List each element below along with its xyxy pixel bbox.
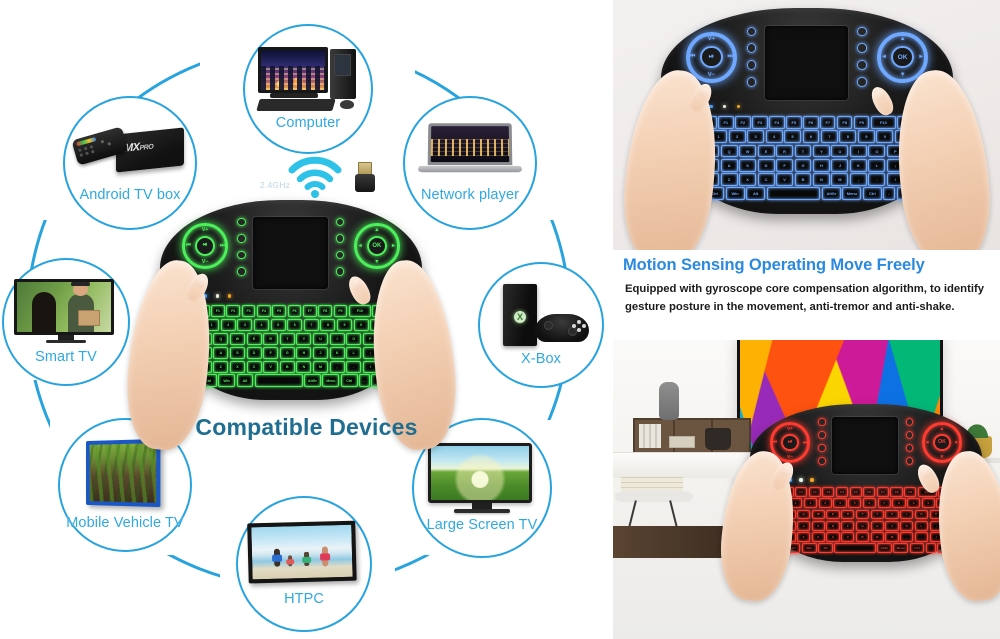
key-2[interactable]: 2 <box>729 130 746 143</box>
key-2[interactable]: 2 <box>221 319 236 331</box>
key-f8[interactable]: F8 <box>318 305 332 317</box>
key-7[interactable]: 7 <box>821 130 838 143</box>
key-f10[interactable]: F10 <box>871 116 896 129</box>
key-[interactable]: . <box>915 532 928 542</box>
smart-tv-icon <box>14 279 118 347</box>
status-led <box>810 478 814 482</box>
key-i[interactable]: I <box>850 145 867 158</box>
key-c[interactable]: C <box>247 361 262 373</box>
wireless-connection-group: 2.4GHz <box>258 152 398 204</box>
media-ring-b-button[interactable]: V− <box>202 259 209 265</box>
key-row: ShiftZXCVBNM,./↑ <box>774 532 957 542</box>
key-space[interactable] <box>767 187 821 200</box>
key-f[interactable]: F <box>776 159 793 172</box>
key-matrix[interactable]: EscF1F2F3F4F5F6F7F8F9F10Del~1234567890BA… <box>692 116 923 200</box>
vehicle-monitor-icon <box>84 440 166 512</box>
android-tv-box-icon: MXPRO <box>74 123 186 183</box>
mini-keyboard-blue[interactable]: ⏯V+V−⏮⏭OK▲▼◄►EscF1F2F3F4F5F6F7F8F9F10Del… <box>661 8 953 214</box>
rug <box>613 526 725 558</box>
nav-ring-center-button[interactable]: OK <box>367 236 387 256</box>
key-row: ~1234567890BACK <box>188 319 395 331</box>
key-9[interactable]: 9 <box>337 319 352 331</box>
key-2[interactable]: 2 <box>804 498 817 508</box>
books <box>669 436 695 448</box>
laptop-screen-icon <box>428 123 513 165</box>
key-t[interactable]: T <box>280 333 295 345</box>
key-3[interactable]: 3 <box>747 130 764 143</box>
key-row: CapsASDFGHJKL;↵ <box>692 159 923 172</box>
media-ring-l-button[interactable]: ⏮ <box>773 440 777 445</box>
touchpad[interactable] <box>832 417 898 474</box>
media-ring-t-button[interactable]: V+ <box>202 227 209 233</box>
media-ring-r-button[interactable]: ⏭ <box>728 54 733 61</box>
device-node-computer[interactable]: Computer <box>243 24 373 154</box>
key-f7[interactable]: F7 <box>303 305 317 317</box>
key-f2[interactable]: F2 <box>735 116 750 129</box>
key-d[interactable]: D <box>247 347 262 359</box>
key-a[interactable]: A <box>797 521 810 531</box>
key-7[interactable]: 7 <box>304 319 319 331</box>
key-row: TabQWERTYUIOP\ <box>774 510 957 520</box>
media-ring-b-button[interactable]: V− <box>708 72 715 78</box>
key-v[interactable]: V <box>263 361 278 373</box>
menu-icon[interactable] <box>237 234 245 242</box>
key-f5[interactable]: F5 <box>850 487 862 497</box>
key-z[interactable]: Z <box>721 173 738 186</box>
key-row: ShiftZXCVBNM,./↑ <box>692 173 923 186</box>
key-row: ShiftZXCVBNM,./↑ <box>188 361 395 373</box>
nav-ring-b-button[interactable]: ▼ <box>940 454 945 459</box>
monitor-icon <box>258 47 328 93</box>
game-console-icon <box>489 284 593 350</box>
feature-panel: ⏯V+V−⏮⏭OK▲▼◄►EscF1F2F3F4F5F6F7F8F9F10Del… <box>613 0 1000 639</box>
tv-screen-icon <box>247 520 357 583</box>
key-ctrl[interactable]: Ctrl <box>341 374 358 386</box>
key-5[interactable]: 5 <box>848 498 861 508</box>
wifi-band-label: 2.4GHz <box>260 180 290 190</box>
key-[interactable]: , <box>850 173 867 186</box>
key-4[interactable]: 4 <box>833 498 846 508</box>
key-k[interactable]: K <box>330 347 345 359</box>
key-row: FnCtrlWinAltAltGrMenuCtrl←↓→ <box>188 374 395 386</box>
key-row: CapsASDFGHJKL;↵ <box>188 347 395 359</box>
nav-ring-center-button[interactable]: OK <box>933 434 951 452</box>
device-label-smart-tv: Smart TV <box>35 349 97 365</box>
back-icon[interactable] <box>336 267 344 275</box>
tower-icon <box>330 49 356 99</box>
key-h[interactable]: H <box>871 521 884 531</box>
key-4[interactable]: 4 <box>254 319 269 331</box>
key-5[interactable]: 5 <box>271 319 286 331</box>
key-8[interactable]: 8 <box>320 319 335 331</box>
search-icon[interactable] <box>857 27 866 36</box>
key-matrix[interactable]: EscF1F2F3F4F5F6F7F8F9F10Del~1234567890BA… <box>774 487 957 553</box>
nav-ring-l-button[interactable]: ◄ <box>925 440 930 445</box>
key-g[interactable]: G <box>795 159 812 172</box>
usb-dongle-icon <box>354 162 376 192</box>
nav-ring-t-button[interactable]: ▲ <box>940 426 945 431</box>
key-h[interactable]: H <box>296 347 311 359</box>
key-c[interactable]: C <box>826 532 839 542</box>
key-f1[interactable]: F1 <box>795 487 807 497</box>
device-label-mobile-vehicle-tv: Mobile Vehicle TV <box>66 515 184 531</box>
key-[interactable]: ← <box>883 187 895 200</box>
key-0[interactable]: 0 <box>354 319 369 331</box>
key-x[interactable]: X <box>230 361 245 373</box>
key-o[interactable]: O <box>868 145 885 158</box>
key-z[interactable]: Z <box>797 532 810 542</box>
key-row: ~1234567890BACK <box>692 130 923 143</box>
nav-ring-t-button[interactable]: ▲ <box>374 227 379 233</box>
key-5[interactable]: 5 <box>784 130 801 143</box>
mousepad-icon <box>256 99 335 111</box>
feature-headline: Motion Sensing Operating Move Freely <box>623 256 995 275</box>
nav-ring-r-button[interactable]: ► <box>954 440 959 445</box>
key-4[interactable]: 4 <box>766 130 783 143</box>
key-d[interactable]: D <box>758 159 775 172</box>
key-l[interactable]: L <box>915 521 928 531</box>
page-title: Compatible Devices <box>0 414 613 441</box>
large-tv-icon <box>428 443 536 515</box>
key-f9[interactable]: F9 <box>334 305 348 317</box>
key-row: FnCtrlWinAltAltGrMenuCtrl←↓→ <box>692 187 923 200</box>
key-win[interactable]: Win <box>726 187 745 200</box>
power-icon[interactable] <box>237 267 245 275</box>
power-icon[interactable] <box>818 457 825 464</box>
key-altgr[interactable]: AltGr <box>304 374 321 386</box>
key-space[interactable] <box>255 374 303 386</box>
key-0[interactable]: 0 <box>922 498 935 508</box>
key-j[interactable]: J <box>885 521 898 531</box>
key-d[interactable]: D <box>826 521 839 531</box>
media-ring-center-button[interactable]: ⏯ <box>781 434 799 452</box>
home-icon[interactable] <box>818 418 825 425</box>
monitor-screen-icon <box>86 438 160 506</box>
laptop-icon <box>418 123 522 181</box>
media-ring-center-button[interactable]: ⏯ <box>700 46 722 68</box>
photo-living-room-keyboard: ⏯V+V−⏮⏭OK▲▼◄►EscF1F2F3F4F5F6F7F8F9F10Del… <box>613 340 1000 639</box>
nav-ring-t-button[interactable]: ▲ <box>900 36 906 42</box>
wifi-icon <box>286 154 344 198</box>
key-f2[interactable]: F2 <box>226 305 240 317</box>
key-menu[interactable]: Menu <box>322 374 339 386</box>
key-matrix[interactable]: EscF1F2F3F4F5F6F7F8F9F10Del~1234567890BA… <box>188 305 395 387</box>
key-x[interactable]: X <box>812 532 825 542</box>
key-v[interactable]: V <box>776 173 793 186</box>
back-icon[interactable] <box>906 457 913 464</box>
product-infographic: Computer MXPRO Android TV box Network pl… <box>0 0 1000 639</box>
key-f3[interactable]: F3 <box>822 487 834 497</box>
key-menu[interactable]: Menu <box>842 187 861 200</box>
key-f5[interactable]: F5 <box>786 116 801 129</box>
feature-description: Equipped with gyroscope core compensatio… <box>625 280 991 317</box>
key-[interactable]: , <box>330 361 345 373</box>
nav-ring-r-button[interactable]: ► <box>391 243 396 249</box>
key-6[interactable]: 6 <box>863 498 876 508</box>
key-9[interactable]: 9 <box>907 498 920 508</box>
key-alt[interactable]: Alt <box>746 187 765 200</box>
key-row: TabQWERTYUIOP\ <box>188 333 395 345</box>
key-r[interactable]: R <box>776 145 793 158</box>
nav-ring-l-button[interactable]: ◄ <box>881 54 887 60</box>
key-m[interactable]: M <box>885 532 898 542</box>
key-t[interactable]: T <box>795 145 812 158</box>
desktop-computer-icon <box>254 47 362 113</box>
key-f8[interactable]: F8 <box>890 487 902 497</box>
media-ring-t-button[interactable]: V+ <box>708 36 715 42</box>
key-f3[interactable]: F3 <box>242 305 256 317</box>
device-node-htpc[interactable]: HTPC <box>236 496 372 632</box>
htpc-tv-icon <box>247 520 361 587</box>
key-altgr[interactable]: AltGr <box>877 543 892 553</box>
nav-ring-b-button[interactable]: ▼ <box>374 259 379 265</box>
key-h[interactable]: H <box>813 159 830 172</box>
device-node-x-box[interactable]: X-Box <box>478 262 604 388</box>
key-row: EscF1F2F3F4F5F6F7F8F9F10Del <box>188 305 395 317</box>
key-o[interactable]: O <box>346 333 361 345</box>
key-w[interactable]: W <box>230 333 245 345</box>
key-[interactable]: . <box>868 173 885 186</box>
key-win[interactable]: Win <box>218 374 235 386</box>
key-w[interactable]: W <box>739 145 756 158</box>
key-r[interactable]: R <box>841 510 854 520</box>
key-z[interactable]: Z <box>213 361 228 373</box>
key-ctrl[interactable]: Ctrl <box>863 187 882 200</box>
laptop-keyboard-icon <box>417 166 524 172</box>
status-led <box>228 294 232 298</box>
device-label-network-player: Network player <box>421 187 519 203</box>
key-[interactable]: , <box>900 532 913 542</box>
media-ring-r-button[interactable]: ⏭ <box>803 440 807 445</box>
key-q[interactable]: Q <box>721 145 738 158</box>
key-k[interactable]: K <box>850 159 867 172</box>
key-w[interactable]: W <box>812 510 825 520</box>
key-x[interactable]: X <box>739 173 756 186</box>
key-t[interactable]: T <box>856 510 869 520</box>
key-7[interactable]: 7 <box>878 498 891 508</box>
mini-keyboard-green[interactable]: ⏯V+V−⏮⏭OK▲▼◄►EscF1F2F3F4F5F6F7F8F9F10Del… <box>160 200 422 400</box>
key-g[interactable]: G <box>280 347 295 359</box>
key-u[interactable]: U <box>313 333 328 345</box>
key-[interactable]: ← <box>359 374 370 386</box>
key-k[interactable]: K <box>900 521 913 531</box>
key-row: EscF1F2F3F4F5F6F7F8F9F10Del <box>692 116 923 129</box>
mute-icon[interactable] <box>237 251 245 259</box>
status-led <box>799 478 803 482</box>
key-6[interactable]: 6 <box>287 319 302 331</box>
key-f4[interactable]: F4 <box>769 116 784 129</box>
key-f9[interactable]: F9 <box>904 487 916 497</box>
key-alt[interactable]: Alt <box>818 543 833 553</box>
key-f5[interactable]: F5 <box>272 305 286 317</box>
media-ring-r-button[interactable]: ⏭ <box>220 242 225 249</box>
key-f3[interactable]: F3 <box>752 116 767 129</box>
key-row: ~1234567890BACK <box>774 498 957 508</box>
key-m[interactable]: M <box>831 173 848 186</box>
key-[interactable]: . <box>346 361 361 373</box>
photo-hands-holding-keyboard: ⏯V+V−⏮⏭OK▲▼◄►EscF1F2F3F4F5F6F7F8F9F10Del… <box>613 0 1000 250</box>
device-label-x-box: X-Box <box>521 351 561 367</box>
mini-keyboard-red[interactable]: ⏯V+V−⏮⏭OK▲▼◄►EscF1F2F3F4F5F6F7F8F9F10Del… <box>750 404 982 562</box>
key-r[interactable]: R <box>263 333 278 345</box>
key-f4[interactable]: F4 <box>257 305 271 317</box>
key-f7[interactable]: F7 <box>877 487 889 497</box>
key-s[interactable]: S <box>739 159 756 172</box>
key-win[interactable]: Win <box>802 543 817 553</box>
key-row: TabQWERTYUIOP\ <box>692 145 923 158</box>
key-f1[interactable]: F1 <box>718 116 733 129</box>
key-j[interactable]: J <box>831 159 848 172</box>
key-y[interactable]: Y <box>813 145 830 158</box>
key-[interactable]: ← <box>926 543 936 553</box>
key-i[interactable]: I <box>330 333 345 345</box>
key-f9[interactable]: F9 <box>854 116 869 129</box>
books <box>639 424 661 448</box>
key-row: CapsASDFGHJKL;↵ <box>774 521 957 531</box>
key-e[interactable]: E <box>758 145 775 158</box>
key-b[interactable]: B <box>795 173 812 186</box>
media-ring-l-button[interactable]: ⏮ <box>186 242 191 249</box>
key-n[interactable]: N <box>871 532 884 542</box>
key-m[interactable]: M <box>313 361 328 373</box>
key-f1[interactable]: F1 <box>211 305 225 317</box>
key-f6[interactable]: F6 <box>863 487 875 497</box>
key-o[interactable]: O <box>915 510 928 520</box>
key-f[interactable]: F <box>841 521 854 531</box>
key-j[interactable]: J <box>313 347 328 359</box>
key-y[interactable]: Y <box>871 510 884 520</box>
key-e[interactable]: E <box>247 333 262 345</box>
key-f10[interactable]: F10 <box>349 305 371 317</box>
key-e[interactable]: E <box>826 510 839 520</box>
tv-screen-icon <box>428 443 532 503</box>
key-6[interactable]: 6 <box>803 130 820 143</box>
key-u[interactable]: U <box>831 145 848 158</box>
console-icon <box>503 284 537 346</box>
media-ring[interactable]: ⏯V+V−⏮⏭ <box>182 223 228 269</box>
key-n[interactable]: N <box>296 361 311 373</box>
settings-icon[interactable] <box>906 431 913 438</box>
nav-ring[interactable]: OK▲▼◄► <box>354 223 400 269</box>
key-3[interactable]: 3 <box>819 498 832 508</box>
home-icon[interactable] <box>237 218 245 226</box>
key-n[interactable]: N <box>813 173 830 186</box>
nav-ring-b-button[interactable]: ▼ <box>900 72 906 78</box>
key-menu[interactable]: Menu <box>893 543 908 553</box>
key-f7[interactable]: F7 <box>820 116 835 129</box>
device-label-computer: Computer <box>276 115 340 131</box>
media-ring-t-button[interactable]: V+ <box>787 426 793 431</box>
key-g[interactable]: G <box>856 521 869 531</box>
key-a[interactable]: A <box>721 159 738 172</box>
key-a[interactable]: A <box>213 347 228 359</box>
key-f[interactable]: F <box>263 347 278 359</box>
key-ctrl[interactable]: Ctrl <box>910 543 925 553</box>
key-3[interactable]: 3 <box>237 319 252 331</box>
mute-icon[interactable] <box>818 444 825 451</box>
device-node-smart-tv[interactable]: Smart TV <box>2 258 130 386</box>
key-0[interactable]: 0 <box>876 130 893 143</box>
media-ring-l-button[interactable]: ⏮ <box>690 54 695 61</box>
hand-left <box>617 66 725 250</box>
device-label-htpc: HTPC <box>284 591 324 607</box>
key-b[interactable]: B <box>280 361 295 373</box>
key-space[interactable] <box>834 543 875 553</box>
key-l[interactable]: L <box>346 347 361 359</box>
key-f8[interactable]: F8 <box>837 116 852 129</box>
key-b[interactable]: B <box>856 532 869 542</box>
key-c[interactable]: C <box>758 173 775 186</box>
media-ring-b-button[interactable]: V− <box>787 454 793 459</box>
gamepad-icon <box>535 314 589 342</box>
device-node-network-player[interactable]: Network player <box>403 96 537 230</box>
key-q[interactable]: Q <box>213 333 228 345</box>
browser-icon[interactable] <box>906 444 913 451</box>
touchpad[interactable] <box>765 26 848 100</box>
key-alt[interactable]: Alt <box>237 374 254 386</box>
nav-ring-l-button[interactable]: ◄ <box>358 243 363 249</box>
key-f4[interactable]: F4 <box>836 487 848 497</box>
key-s[interactable]: S <box>812 521 825 531</box>
device-label-large-screen-tv: Large Screen TV <box>427 517 538 533</box>
settings-icon[interactable] <box>857 43 866 52</box>
search-icon[interactable] <box>906 418 913 425</box>
key-f6[interactable]: F6 <box>803 116 818 129</box>
key-v[interactable]: V <box>841 532 854 542</box>
status-led <box>216 294 220 298</box>
key-9[interactable]: 9 <box>858 130 875 143</box>
key-f6[interactable]: F6 <box>288 305 302 317</box>
key-i[interactable]: I <box>900 510 913 520</box>
compatible-devices-panel: Computer MXPRO Android TV box Network pl… <box>0 0 613 639</box>
browser-icon[interactable] <box>857 60 866 69</box>
key-u[interactable]: U <box>885 510 898 520</box>
key-l[interactable]: L <box>868 159 885 172</box>
mouse-icon <box>340 100 354 109</box>
basket <box>705 428 731 450</box>
key-8[interactable]: 8 <box>892 498 905 508</box>
menu-icon[interactable] <box>818 431 825 438</box>
vase <box>659 382 679 420</box>
key-f2[interactable]: F2 <box>809 487 821 497</box>
tv-screen-icon <box>14 279 114 335</box>
key-q[interactable]: Q <box>797 510 810 520</box>
nav-ring-r-button[interactable]: ► <box>918 54 924 60</box>
back-icon[interactable] <box>857 77 866 86</box>
key-8[interactable]: 8 <box>839 130 856 143</box>
key-y[interactable]: Y <box>296 333 311 345</box>
touchpad[interactable] <box>253 217 328 289</box>
key-row: FnCtrlWinAltAltGrMenuCtrl←↓→ <box>774 543 957 553</box>
power-icon[interactable] <box>747 77 756 86</box>
key-altgr[interactable]: AltGr <box>822 187 841 200</box>
key-s[interactable]: S <box>230 347 245 359</box>
